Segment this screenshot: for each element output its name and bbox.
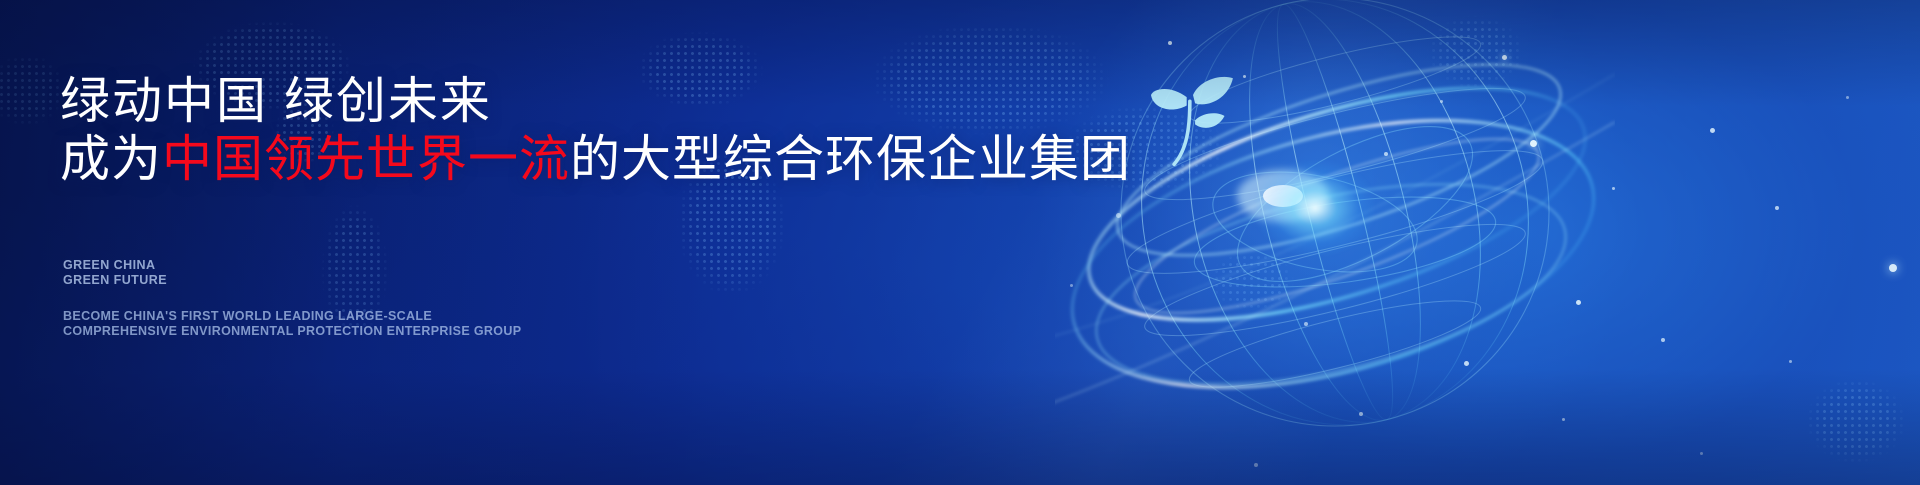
description-english-line-2: COMPREHENSIVE ENVIRONMENTAL PROTECTION E… xyxy=(63,324,521,339)
star-particle xyxy=(1846,96,1849,99)
star-particle xyxy=(1700,452,1703,455)
star-particle xyxy=(1889,264,1897,272)
banner-copy: 绿动中国 绿创未来 成为中国领先世界一流的大型综合环保企业集团 GREEN CH… xyxy=(60,0,1060,485)
star-particle xyxy=(1661,338,1665,342)
star-particle xyxy=(1710,128,1715,133)
slogan-english-line-2: GREEN FUTURE xyxy=(63,273,167,288)
slogan-english: GREEN CHINA GREEN FUTURE xyxy=(63,258,167,288)
headline-line-2-prefix: 成为 xyxy=(60,131,162,187)
headline-line-2-suffix: 的大型综合环保企业集团 xyxy=(570,131,1131,187)
hero-banner: 绿动中国 绿创未来 成为中国领先世界一流的大型综合环保企业集团 GREEN CH… xyxy=(0,0,1920,485)
description-english-line-1: BECOME CHINA'S FIRST WORLD LEADING LARGE… xyxy=(63,309,521,324)
headline-line-1: 绿动中国 绿创未来 xyxy=(60,76,492,126)
headline-line-2: 成为中国领先世界一流的大型综合环保企业集团 xyxy=(60,134,1131,184)
star-particle xyxy=(1789,360,1792,363)
slogan-english-line-1: GREEN CHINA xyxy=(63,258,167,273)
star-particle xyxy=(1775,206,1779,210)
headline-line-2-highlight: 中国领先世界一流 xyxy=(162,131,570,187)
globe-core-glow xyxy=(1255,160,1375,256)
description-english: BECOME CHINA'S FIRST WORLD LEADING LARGE… xyxy=(63,309,521,339)
